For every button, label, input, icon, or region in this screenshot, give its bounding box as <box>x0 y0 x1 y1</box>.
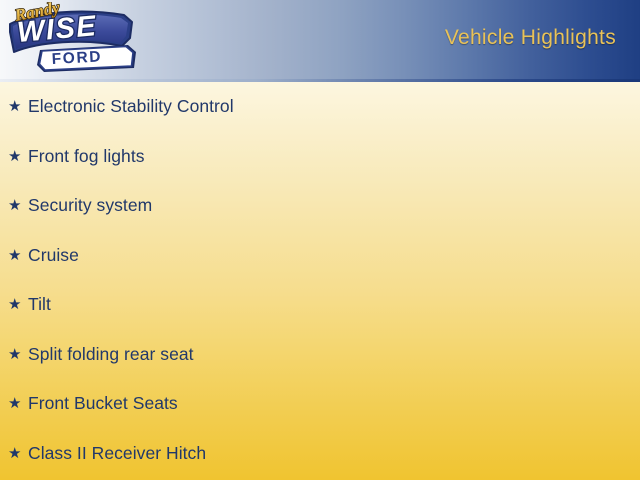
star-bullet-icon: ★ <box>8 446 28 461</box>
star-bullet-icon: ★ <box>8 396 28 411</box>
list-item: ★ Front fog lights <box>0 132 640 182</box>
logo-graphic: WISE FORD Randy <box>4 2 140 78</box>
star-bullet-icon: ★ <box>8 149 28 164</box>
list-item: ★ Class II Receiver Hitch <box>0 429 640 479</box>
vehicle-highlights-list: ★ Electronic Stability Control ★ Front f… <box>0 82 640 480</box>
list-item-label: Front fog lights <box>28 146 145 167</box>
page-header: WISE FORD Randy Vehicle Highlights <box>0 0 640 82</box>
vehicle-highlights-page: WISE FORD Randy Vehicle Highlights ★ Ele… <box>0 0 640 480</box>
star-bullet-icon: ★ <box>8 248 28 263</box>
list-item-label: Class II Receiver Hitch <box>28 443 206 464</box>
list-item: ★ Split folding rear seat <box>0 330 640 380</box>
list-item-label: Split folding rear seat <box>28 344 194 365</box>
list-item-label: Front Bucket Seats <box>28 393 178 414</box>
logo-ford-text: FORD <box>51 48 102 68</box>
page-title: Vehicle Highlights <box>445 26 616 50</box>
list-item: ★ Tilt <box>0 280 640 330</box>
list-item-label: Cruise <box>28 245 79 266</box>
list-item: ★ Electronic Stability Control <box>0 82 640 132</box>
list-item-label: Tilt <box>28 294 51 315</box>
list-item: ★ Cruise <box>0 231 640 281</box>
star-bullet-icon: ★ <box>8 347 28 362</box>
list-item: ★ Security system <box>0 181 640 231</box>
list-item-label: Electronic Stability Control <box>28 96 234 117</box>
star-bullet-icon: ★ <box>8 198 28 213</box>
star-bullet-icon: ★ <box>8 99 28 114</box>
list-item-label: Security system <box>28 195 152 216</box>
star-bullet-icon: ★ <box>8 297 28 312</box>
list-item: ★ Front Bucket Seats <box>0 379 640 429</box>
randy-wise-ford-logo: WISE FORD Randy <box>4 2 140 78</box>
